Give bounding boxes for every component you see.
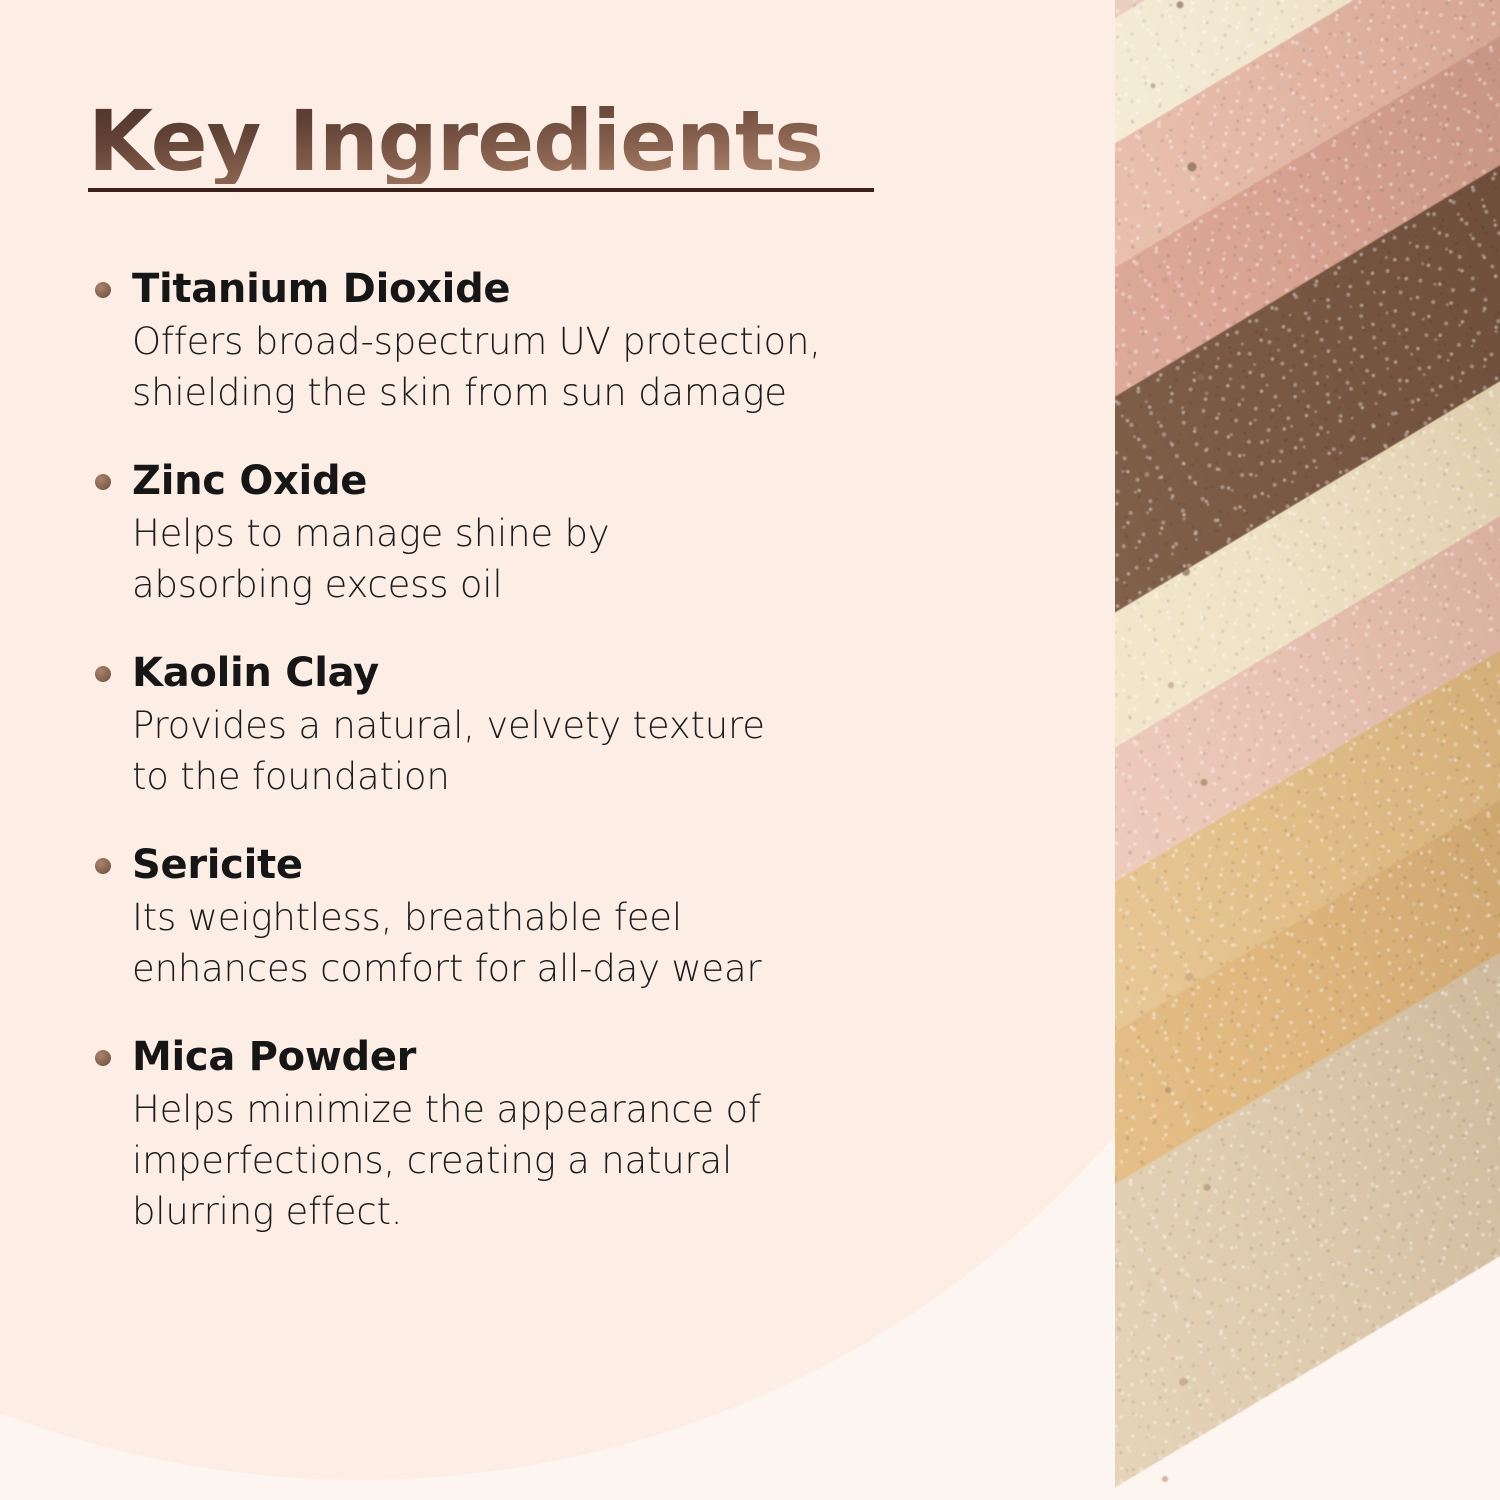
list-item: Kaolin Clay Provides a natural, velvety …	[88, 646, 1048, 802]
bullet-dot-icon	[95, 666, 111, 682]
list-item: Titanium Dioxide Offers broad-spectrum U…	[88, 262, 1048, 418]
ingredient-name: Mica Powder	[132, 1030, 1048, 1084]
ingredient-name: Kaolin Clay	[132, 646, 1048, 700]
bullet-dot-icon	[95, 474, 111, 490]
ingredient-name: Titanium Dioxide	[132, 262, 1048, 316]
powder-swatch-column	[1115, 0, 1500, 1500]
bullet-dot-icon	[95, 858, 111, 874]
list-item: Mica Powder Helps minimize the appearanc…	[88, 1030, 1048, 1237]
list-item: Zinc Oxide Helps to manage shine by abso…	[88, 454, 1048, 610]
key-ingredients-poster: Key Ingredients Titanium Dioxide Offers …	[0, 0, 1500, 1500]
page-title-block: Key Ingredients	[88, 98, 908, 192]
ingredient-name: Zinc Oxide	[132, 454, 1048, 508]
powder-swatch-bands	[1115, 0, 1500, 1500]
page-title: Key Ingredients	[88, 98, 908, 184]
ingredient-description: Helps to manage shine by absorbing exces…	[132, 508, 1048, 610]
ingredient-description: Its weightless, breathable feel enhances…	[132, 892, 1048, 994]
bullet-dot-icon	[95, 282, 111, 298]
ingredient-description: Offers broad-spectrum UV protection, shi…	[132, 316, 1048, 418]
ingredient-name: Sericite	[132, 838, 1048, 892]
ingredients-list: Titanium Dioxide Offers broad-spectrum U…	[88, 262, 1048, 1237]
content-panel: Key Ingredients Titanium Dioxide Offers …	[0, 0, 1110, 1500]
list-item: Sericite Its weightless, breathable feel…	[88, 838, 1048, 994]
ingredient-description: Provides a natural, velvety texture to t…	[132, 700, 1048, 802]
bullet-dot-icon	[95, 1050, 111, 1066]
ingredient-description: Helps minimize the appearance of imperfe…	[132, 1084, 1048, 1237]
